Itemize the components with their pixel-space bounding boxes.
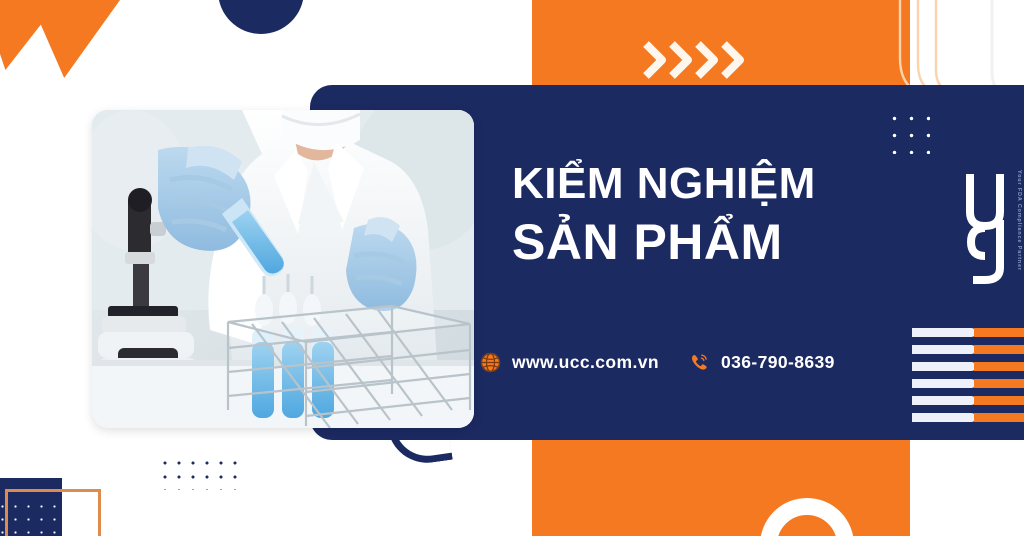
- logo-tagline: Your FDA Compliance Partner: [1016, 170, 1022, 271]
- phone-contact[interactable]: 036-790-8639: [689, 352, 835, 373]
- page-title: KIỂM NGHIỆM SẢN PHẨM: [512, 158, 912, 272]
- website-contact[interactable]: www.ucc.com.vn: [480, 352, 659, 373]
- stripe-bars-decor: [900, 328, 1024, 432]
- phone-text: 036-790-8639: [721, 352, 835, 373]
- globe-icon: [480, 352, 501, 373]
- phone-call-icon: [689, 352, 710, 373]
- title-line-2: SẢN PHẨM: [512, 212, 912, 272]
- banner-canvas: KIỂM NGHIỆM SẢN PHẨM www.ucc.com.vn: [0, 0, 1024, 536]
- dot-grid-icon: [886, 110, 930, 154]
- square-outline-decor: [5, 489, 101, 536]
- title-line-1: KIỂM NGHIỆM: [512, 158, 912, 210]
- hero-photo: [92, 110, 474, 428]
- ucc-logo[interactable]: Your FDA Compliance Partner: [963, 168, 1021, 286]
- contact-row: www.ucc.com.vn 036-790-8639: [480, 352, 835, 373]
- chevron-arrows-icon: [640, 38, 760, 82]
- website-text: www.ucc.com.vn: [512, 352, 659, 373]
- ucc-monogram-icon: [963, 168, 1009, 286]
- dot-grid-icon: [158, 456, 246, 490]
